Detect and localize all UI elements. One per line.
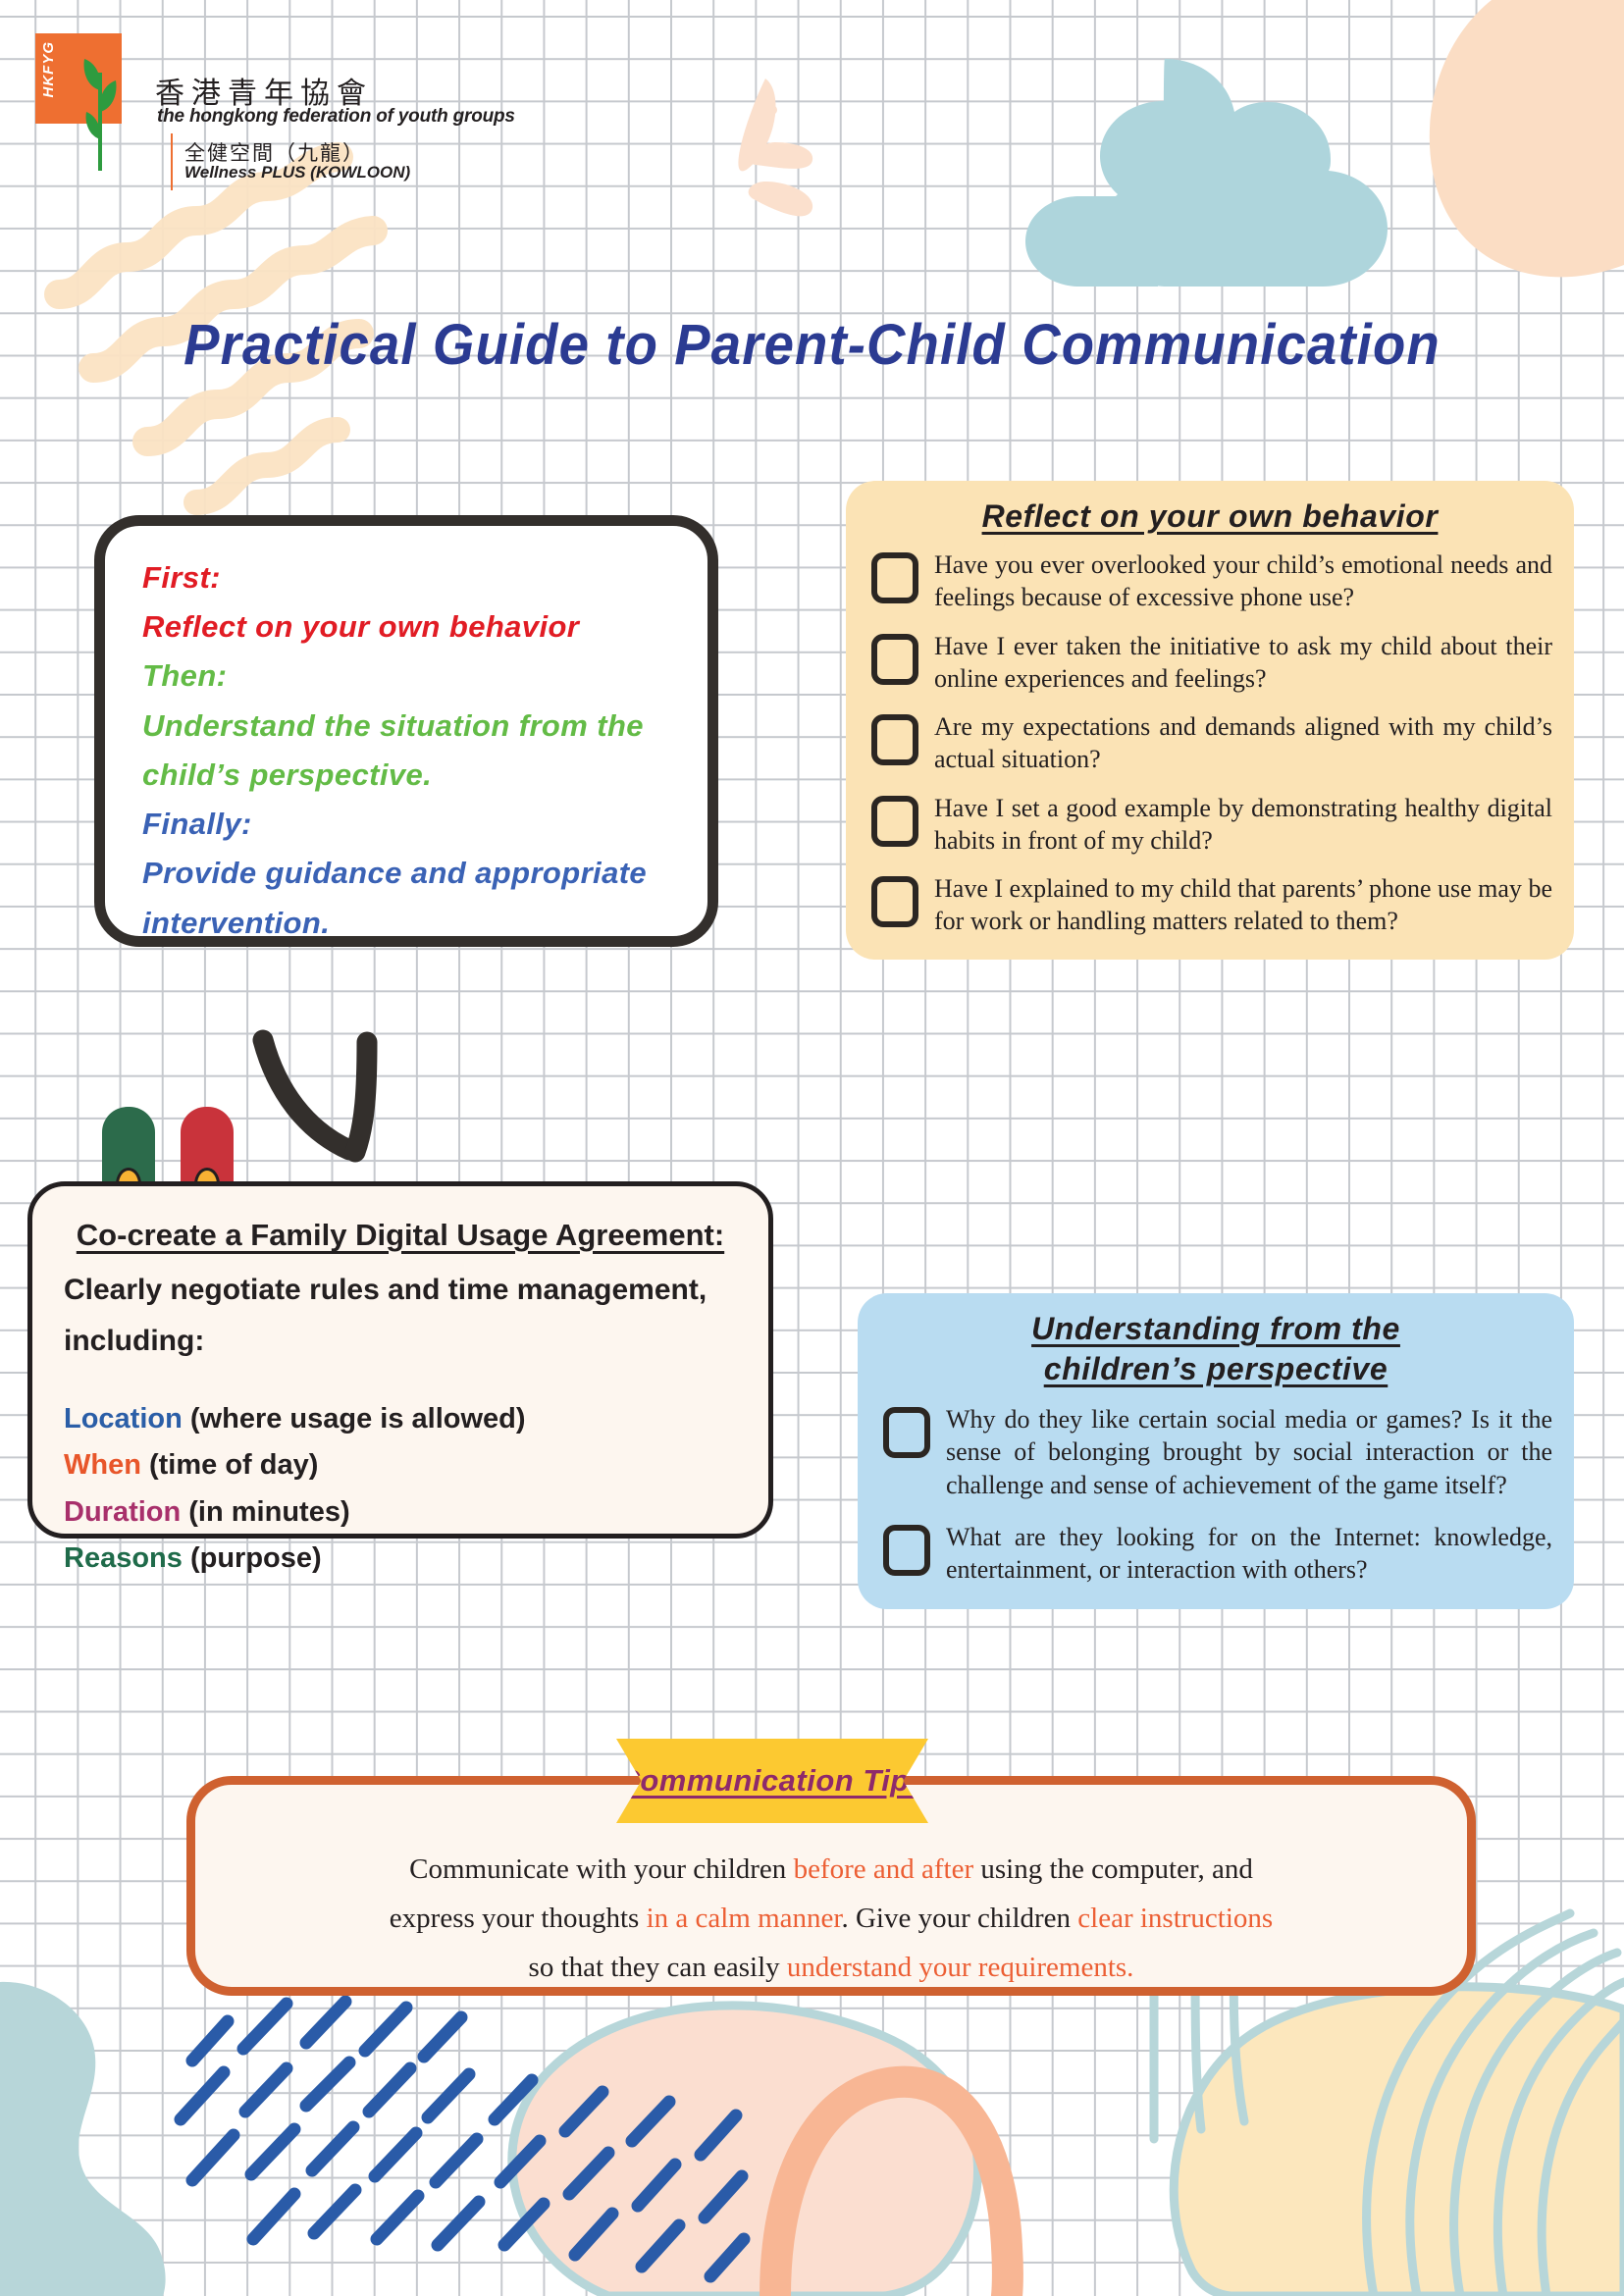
agreement-item: Duration (in minutes)	[64, 1489, 741, 1536]
step-1-text: Reflect on your own behavior	[142, 602, 702, 652]
checklist-item-text: Have I ever taken the initiative to ask …	[934, 630, 1552, 696]
agreement-item-list: Location (where usage is allowed)When (t…	[64, 1396, 741, 1582]
unit-name-english: Wellness PLUS (KOWLOON)	[184, 163, 410, 183]
step-2-text: Understand the situation from the child’…	[142, 702, 702, 800]
checkbox-icon[interactable]	[883, 1525, 930, 1576]
org-name-english: the hongkong federation of youth groups	[157, 106, 515, 128]
plant-sprout-icon	[80, 43, 120, 171]
tips-line2-b: . Give your children	[841, 1903, 1077, 1934]
steps-speech-bubble: First: Reflect on your own behavior Then…	[94, 515, 742, 1084]
tips-line2-highlight-2: clear instructions	[1077, 1903, 1273, 1934]
agreement-item-desc: (purpose)	[183, 1542, 322, 1574]
tips-line3-highlight: understand your requirements.	[787, 1952, 1134, 1983]
checklist-item-text: Have you ever overlooked your child’s em…	[934, 548, 1552, 614]
checklist-item-text: Have I set a good example by demonstrati…	[934, 792, 1552, 858]
speech-bubble-text: First: Reflect on your own behavior Then…	[142, 553, 702, 948]
checklist-item[interactable]: Have I set a good example by demonstrati…	[871, 792, 1552, 858]
checklist-item-text: Have I explained to my child that parent…	[934, 872, 1552, 938]
agreement-item-key: Reasons	[64, 1542, 183, 1574]
hkfyg-logo-text: HKFYG	[41, 41, 57, 98]
agreement-item-desc: (in minutes)	[181, 1496, 349, 1528]
teal-blob-bottom-left	[0, 1982, 166, 2296]
reflect-on-behavior-panel: Reflect on your own behavior Have you ev…	[846, 481, 1574, 960]
step-1-label: First:	[142, 553, 702, 602]
step-2-label: Then:	[142, 652, 702, 701]
perspective-panel-heading-line1: Understanding from the	[879, 1311, 1552, 1347]
speech-bubble-box: First: Reflect on your own behavior Then…	[94, 515, 718, 947]
reflect-panel-heading: Reflect on your own behavior	[867, 498, 1552, 535]
tips-line2-a: express your thoughts	[390, 1903, 647, 1934]
communication-tips-ribbon: Communication Tips	[616, 1739, 928, 1823]
poster-page: HKFYG 香港青年協會 the hongkong federation of …	[0, 0, 1624, 2296]
checkbox-icon[interactable]	[871, 714, 918, 765]
agreement-item: Location (where usage is allowed)	[64, 1396, 741, 1442]
checkbox-icon[interactable]	[871, 796, 918, 847]
perspective-checklist: Why do they like certain social media or…	[883, 1403, 1552, 1586]
agreement-item: When (time of day)	[64, 1442, 741, 1488]
reflect-checklist: Have you ever overlooked your child’s em…	[871, 548, 1552, 938]
step-3-label: Finally:	[142, 800, 702, 849]
checkbox-icon[interactable]	[871, 634, 918, 685]
perspective-panel-heading-line2: children’s perspective	[879, 1351, 1552, 1387]
checklist-item[interactable]: What are they looking for on the Interne…	[883, 1521, 1552, 1587]
agreement-title: Co-create a Family Digital Usage Agreeme…	[32, 1218, 768, 1253]
agreement-item: Reasons (purpose)	[64, 1536, 741, 1582]
checklist-item[interactable]: Have I ever taken the initiative to ask …	[871, 630, 1552, 696]
children-perspective-panel: Understanding from the children’s perspe…	[858, 1293, 1574, 1609]
peach-petal-decoration	[738, 78, 812, 216]
checklist-item-text: What are they looking for on the Interne…	[946, 1521, 1552, 1587]
checklist-item[interactable]: Why do they like certain social media or…	[883, 1403, 1552, 1501]
checklist-item-text: Why do they like certain social media or…	[946, 1403, 1552, 1501]
agreement-item-desc: (time of day)	[141, 1449, 318, 1481]
cloud-decoration-left-lobe	[1025, 196, 1158, 287]
communication-tips-body: Communicate with your children before an…	[235, 1846, 1428, 1993]
checkbox-icon[interactable]	[883, 1407, 930, 1458]
tips-line1-highlight: before and after	[794, 1853, 974, 1885]
agreement-item-key: Duration	[64, 1496, 181, 1528]
step-3-text: Provide guidance and appropriate interve…	[142, 849, 702, 947]
logo-divider	[171, 133, 173, 190]
organization-logo: HKFYG 香港青年協會 the hongkong federation of …	[35, 26, 644, 183]
checklist-item[interactable]: Have you ever overlooked your child’s em…	[871, 548, 1552, 614]
page-title: Practical Guide to Parent-Child Communic…	[49, 312, 1576, 378]
tips-line3-a: so that they can easily	[529, 1952, 787, 1983]
checkbox-icon[interactable]	[871, 552, 918, 603]
tips-line1-a: Communicate with your children	[409, 1853, 793, 1885]
agreement-body: Clearly negotiate rules and time managem…	[64, 1265, 741, 1366]
agreement-item-desc: (where usage is allowed)	[183, 1403, 526, 1435]
tips-line1-b: using the computer, and	[973, 1853, 1253, 1885]
checklist-item[interactable]: Have I explained to my child that parent…	[871, 872, 1552, 938]
family-agreement-card: Co-create a Family Digital Usage Agreeme…	[27, 1181, 773, 1539]
communication-tips-label: Communication Tips	[617, 1763, 926, 1799]
agreement-item-key: Location	[64, 1403, 183, 1435]
checkbox-icon[interactable]	[871, 876, 918, 927]
peach-blob-top-right	[1430, 0, 1624, 277]
tips-line2-highlight: in a calm manner	[647, 1903, 842, 1934]
checklist-item-text: Are my expectations and demands aligned …	[934, 710, 1552, 776]
agreement-item-key: When	[64, 1449, 141, 1481]
checklist-item[interactable]: Are my expectations and demands aligned …	[871, 710, 1552, 776]
